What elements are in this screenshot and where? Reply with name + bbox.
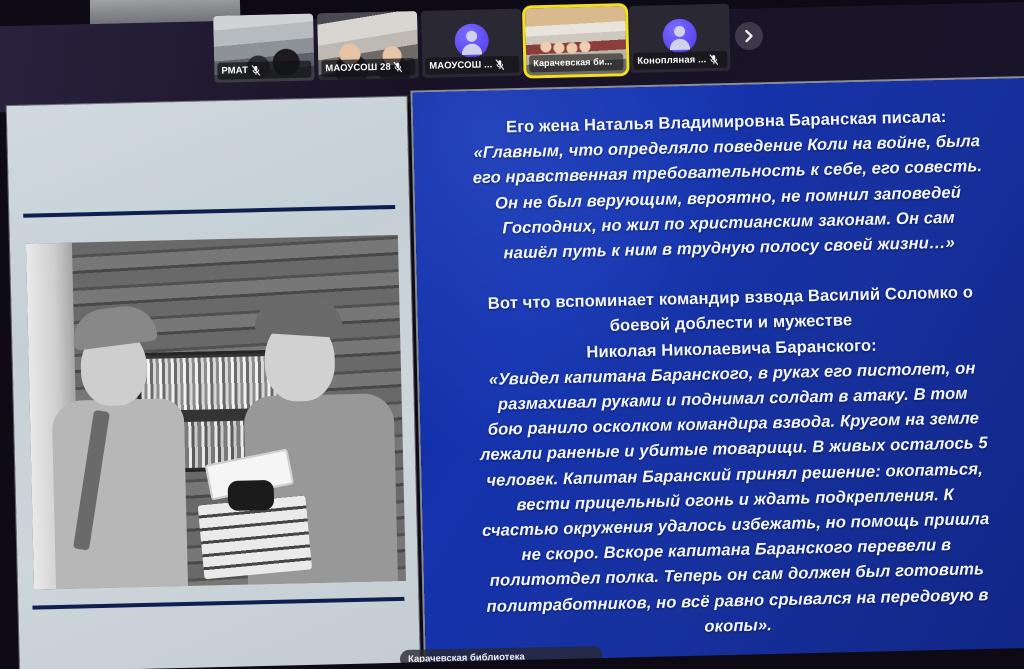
slide-right-panel: Его жена Наталья Владимировна Баранская … xyxy=(412,78,1024,669)
chevron-right-icon xyxy=(742,29,756,43)
divider-rule-bottom xyxy=(32,597,404,610)
photo-hand xyxy=(228,480,275,511)
slide-body-text: Его жена Наталья Владимировна Баранская … xyxy=(429,102,1024,645)
mic-muted-icon xyxy=(495,59,504,70)
mic-muted-icon xyxy=(394,61,403,72)
participant-name: МАОУСОШ 28 xyxy=(325,62,391,73)
participant-tile-1[interactable]: РМАТ xyxy=(213,13,315,82)
participant-name: РМАТ xyxy=(221,66,248,76)
historical-photograph xyxy=(26,235,406,590)
slide-left-panel xyxy=(7,97,420,669)
photo-soldier-left-body xyxy=(52,398,188,590)
participant-name: Конопляная ... xyxy=(637,55,706,66)
mic-muted-icon xyxy=(251,65,260,76)
participant-tile-3[interactable]: МАОУСОШ ... xyxy=(421,9,523,78)
presentation-slide: Его жена Наталья Владимировна Баранская … xyxy=(0,60,1024,669)
screenshot-root: РМАТМАОУСОШ 28МАОУСОШ ...Карачевская би.… xyxy=(0,0,1024,669)
person-avatar-icon xyxy=(662,18,697,53)
participant-tile-5[interactable]: Конопляная ... xyxy=(629,4,731,73)
participant-tile-4[interactable]: Карачевская би... xyxy=(525,6,627,75)
mic-muted-icon xyxy=(709,54,718,65)
participant-name: Карачевская би... xyxy=(533,57,612,68)
participant-name: МАОУСОШ ... xyxy=(429,60,492,71)
person-avatar-icon xyxy=(454,23,489,58)
divider-rule-top xyxy=(23,205,395,218)
participant-tile-2[interactable]: МАОУСОШ 28 xyxy=(317,11,419,80)
